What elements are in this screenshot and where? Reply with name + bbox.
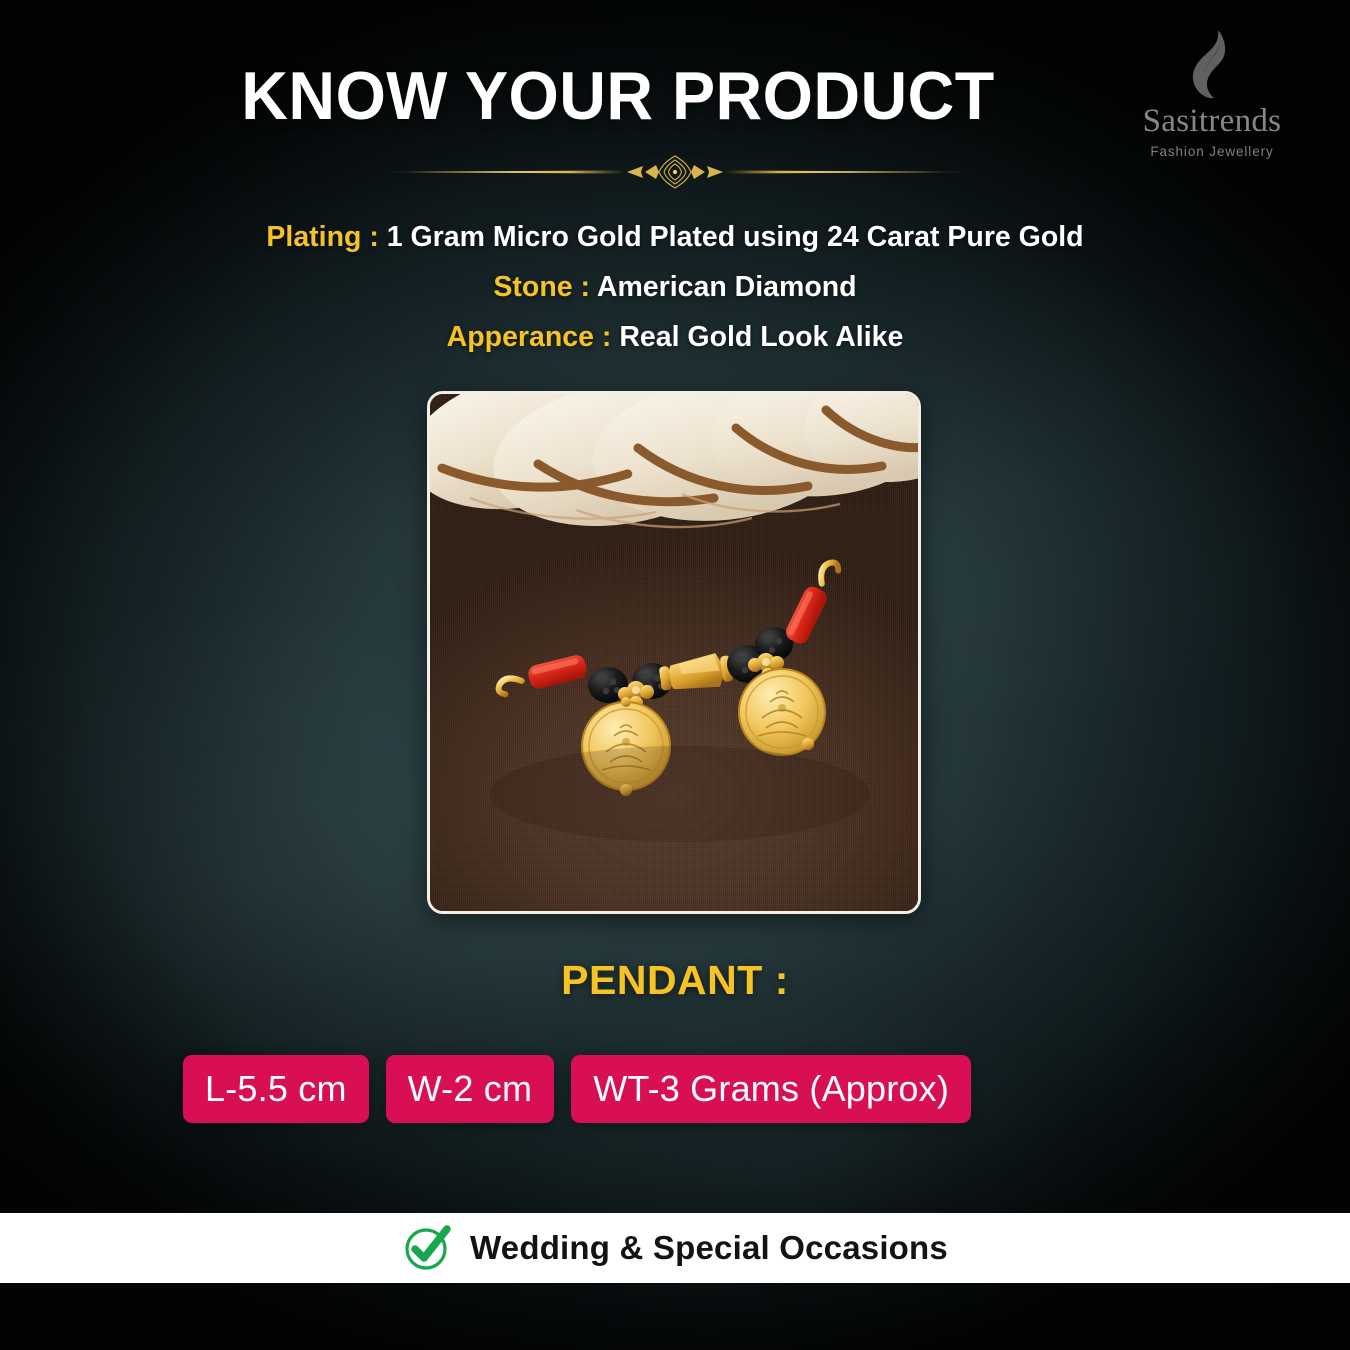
spec-key-stone: Stone :	[493, 271, 590, 303]
footer-text: Wedding & Special Occasions	[470, 1229, 948, 1267]
badge-weight[interactable]: WT-3 Grams (Approx)	[571, 1055, 971, 1123]
footer-bar: Wedding & Special Occasions	[0, 1213, 1350, 1283]
product-photo	[427, 391, 921, 914]
photo-content	[430, 394, 918, 911]
spec-key-apperance: Apperance :	[447, 321, 612, 353]
spec-row-plating: Plating : 1 Gram Micro Gold Plated using…	[0, 212, 1350, 262]
brand-name: Sasitrends	[1112, 105, 1312, 138]
check-circle-icon	[402, 1223, 452, 1273]
badge-width[interactable]: W-2 cm	[386, 1055, 555, 1123]
spec-key-plating: Plating :	[266, 221, 378, 253]
coconut-slices	[430, 394, 918, 543]
poster-canvas: KNOW YOUR PRODUCT Sasitrends Fashion Jew…	[0, 0, 1350, 1350]
section-label-pendant: PENDANT :	[0, 957, 1350, 1004]
coin-charm-right	[739, 669, 825, 755]
spec-value-stone: American Diamond	[597, 271, 857, 303]
ornament-divider	[375, 152, 975, 192]
spec-row-stone: Stone : American Diamond	[0, 262, 1350, 312]
spec-row-apperance: Apperance : Real Gold Look Alike	[0, 312, 1350, 362]
brand-logo: Sasitrends Fashion Jewellery	[1112, 28, 1312, 168]
measurement-badges: L-5.5 cm W-2 cm WT-3 Grams (Approx)	[183, 1055, 1167, 1123]
flame-icon	[1180, 28, 1244, 104]
spec-value-apperance: Real Gold Look Alike	[619, 321, 903, 353]
badge-length[interactable]: L-5.5 cm	[183, 1055, 369, 1123]
spec-list: Plating : 1 Gram Micro Gold Plated using…	[0, 212, 1350, 362]
spec-value-plating: 1 Gram Micro Gold Plated using 24 Carat …	[387, 221, 1084, 253]
brand-tagline: Fashion Jewellery	[1112, 144, 1312, 159]
